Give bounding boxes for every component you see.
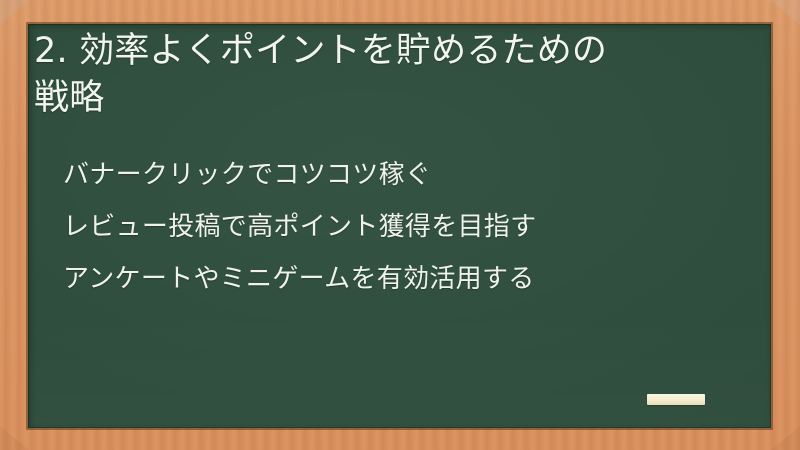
frame-miter-top-left-icon xyxy=(0,0,29,25)
chalkboard-surface: 2. 効率よくポイントを貯めるための 戦略 バナークリックでコツコツ稼ぐ レビュ… xyxy=(28,24,771,428)
slide-title: 2. 効率よくポイントを貯めるための 戦略 xyxy=(34,28,754,122)
list-item: アンケートやミニゲームを有効活用する xyxy=(63,253,753,305)
list-item: レビュー投稿で高ポイント獲得を目指す xyxy=(63,201,753,253)
chalk-stick-icon xyxy=(647,394,705,405)
list-item: バナークリックでコツコツ稼ぐ xyxy=(63,149,753,201)
frame-miter-top-right-icon xyxy=(771,0,800,25)
frame-miter-right-top-icon xyxy=(771,0,800,25)
frame-miter-left-top-icon xyxy=(0,0,29,25)
frame-miter-bottom-left-icon xyxy=(0,426,29,450)
chalkboard-slide: 2. 効率よくポイントを貯めるための 戦略 バナークリックでコツコツ稼ぐ レビュ… xyxy=(0,0,800,450)
bullet-list: バナークリックでコツコツ稼ぐ レビュー投稿で高ポイント獲得を目指す アンケートや… xyxy=(63,149,753,305)
chalkboard-content: 2. 効率よくポイントを貯めるための 戦略 バナークリックでコツコツ稼ぐ レビュ… xyxy=(28,24,771,428)
frame-miter-bottom-right-icon xyxy=(771,426,800,450)
